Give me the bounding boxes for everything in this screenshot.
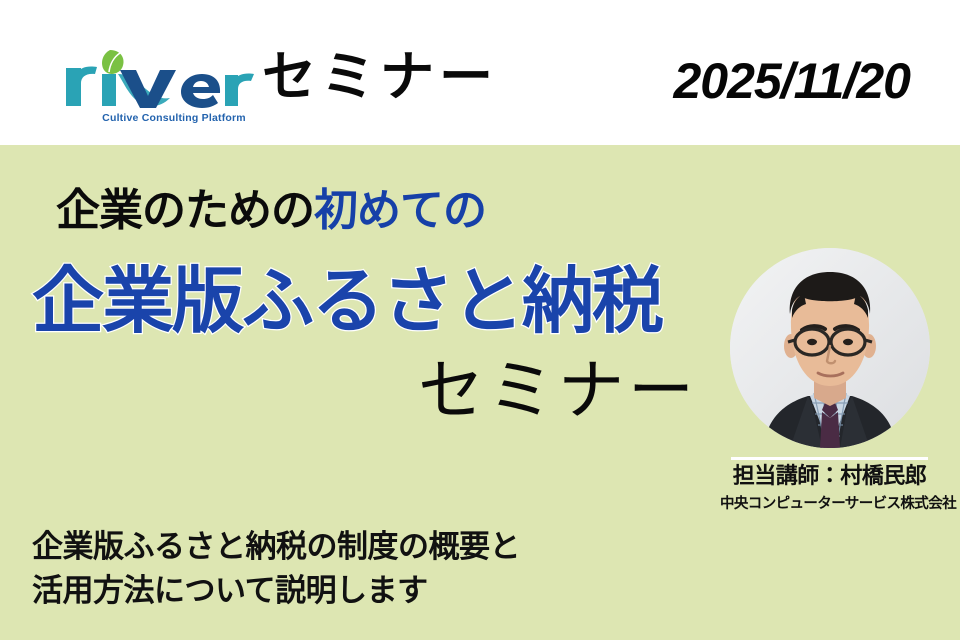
speaker-block: 担当講師：村橋民郎 中央コンピューターサービス株式会社 [722, 248, 937, 448]
lead-description: 企業版ふるさと納税の制度の概要と 活用方法について説明します [32, 525, 520, 613]
speaker-divider [731, 457, 928, 460]
avatar [730, 248, 930, 448]
seminar-flyer-slide: Cultive Consulting Platform セミナー 2025/11… [0, 0, 960, 640]
seminar-subtitle: セミナー [388, 358, 698, 424]
main-content: 企業のための初めての 企業版ふるさと納税 セミナー 企業版ふるさと納税の制度の概… [0, 145, 960, 640]
event-date: 2025/11/20 [673, 56, 910, 106]
lead-line-2: 活用方法について説明します [32, 569, 520, 613]
page-title: 企業版ふるさと納税 [32, 265, 662, 337]
kicker-black-part: 企業のための [56, 185, 314, 236]
speaker-name: 担当講師：村橋民郎 [722, 464, 937, 490]
title-kicker: 企業のための初めての [56, 189, 486, 233]
header-bar: Cultive Consulting Platform セミナー 2025/11… [0, 0, 960, 145]
header-seminar-label: セミナー [262, 50, 498, 104]
kicker-blue-part: 初めての [314, 185, 486, 236]
river-wordmark [62, 48, 262, 108]
logo-tagline: Cultive Consulting Platform [84, 112, 264, 124]
river-logo[interactable]: Cultive Consulting Platform [62, 48, 262, 130]
lead-line-1: 企業版ふるさと納税の制度の概要と [32, 525, 520, 569]
speaker-organization: 中央コンピューターサービス株式会社 [720, 496, 939, 513]
